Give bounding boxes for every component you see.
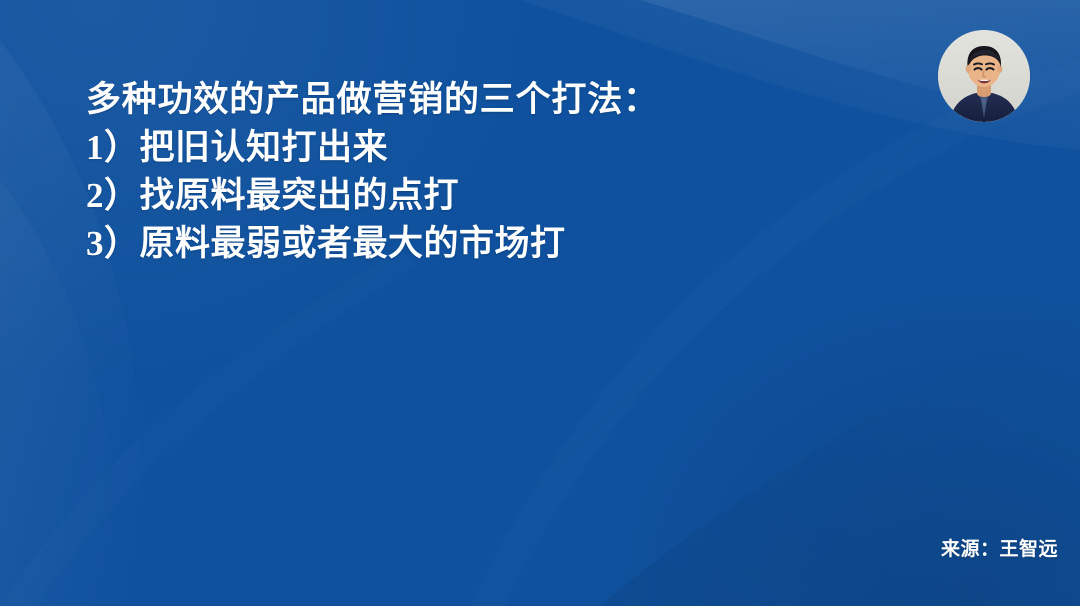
person-portrait-photo-icon	[938, 30, 1030, 122]
headline-title: 多种功效的产品做营销的三个打法：	[86, 76, 916, 124]
headline-item-2: 2）找原料最突出的点打	[86, 172, 916, 220]
headline-block: 多种功效的产品做营销的三个打法： 1）把旧认知打出来 2）找原料最突出的点打 3…	[86, 76, 916, 268]
headline-item-3: 3）原料最弱或者最大的市场打	[86, 220, 916, 268]
slide-canvas: 多种功效的产品做营销的三个打法： 1）把旧认知打出来 2）找原料最突出的点打 3…	[0, 0, 1080, 606]
source-credit: 来源：王智远	[941, 534, 1058, 561]
headline-item-1: 1）把旧认知打出来	[86, 124, 916, 172]
avatar	[938, 30, 1030, 122]
